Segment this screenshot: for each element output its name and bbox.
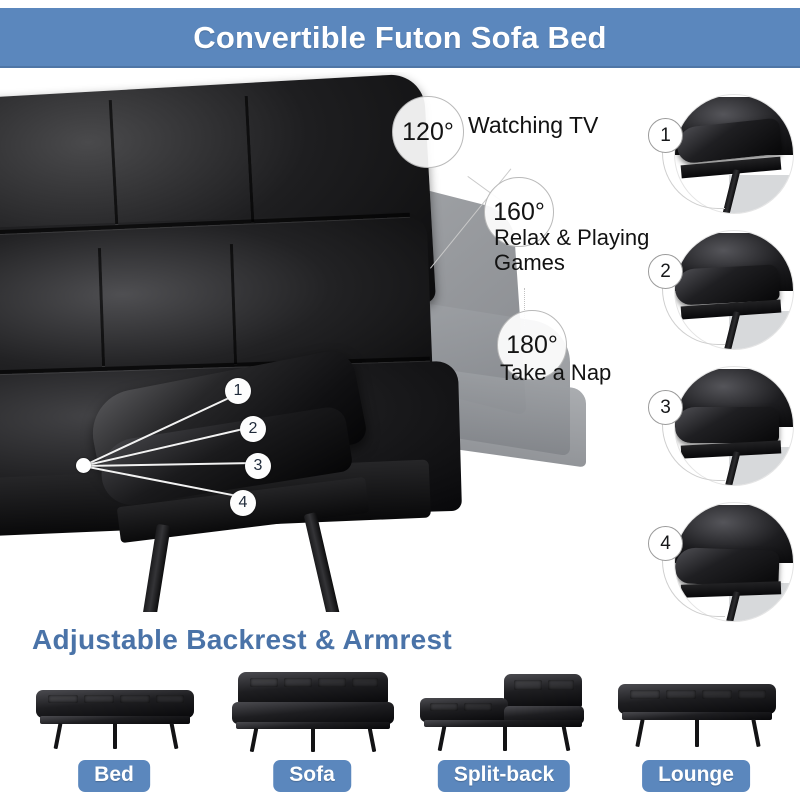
tuft	[250, 678, 278, 687]
thumbnail-2[interactable]: 2	[648, 230, 770, 352]
backrest	[238, 672, 388, 704]
fan-line-4	[83, 465, 250, 499]
seat	[232, 702, 394, 724]
product-infographic: Convertible Futon Sofa Bed 120° Watching…	[0, 0, 800, 800]
fan-line-3	[83, 462, 255, 467]
thumbnail-4[interactable]: 4	[648, 502, 770, 624]
fan-pivot-point	[76, 458, 91, 473]
armrest-position-fan: 1 2 3 4	[60, 370, 300, 520]
mode-split-back[interactable]: Split-back	[404, 668, 604, 794]
mode-illustration-bed	[14, 668, 214, 752]
tuft	[156, 695, 184, 703]
mode-lounge[interactable]: Lounge	[596, 668, 796, 794]
leg	[54, 723, 63, 749]
thumbnail-badge-1: 1	[648, 118, 683, 153]
thumbnail-badge-2: 2	[648, 254, 683, 289]
leg	[751, 719, 760, 747]
tuft	[352, 678, 378, 687]
armrest-position-badge-4: 4	[230, 490, 256, 516]
mode-label-sofa: Sofa	[273, 760, 351, 792]
floor-shadow	[729, 175, 793, 213]
mode-label-bed: Bed	[78, 760, 150, 792]
tuft	[120, 695, 150, 703]
thumbnail-1[interactable]: 1	[648, 94, 770, 216]
reclined-back	[618, 684, 776, 714]
tuft	[630, 690, 660, 699]
leg	[562, 726, 571, 751]
tuft	[666, 690, 696, 699]
thumbnail-3[interactable]: 3	[648, 366, 770, 488]
angle-label-180: Take a Nap	[500, 361, 611, 386]
tuft	[548, 680, 574, 690]
armrest-detail-thumbnails: 1 2	[648, 78, 800, 634]
leg	[438, 726, 447, 751]
tuft	[284, 678, 312, 687]
leg	[368, 728, 377, 752]
thumbnail-badge-4: 4	[648, 526, 683, 561]
tuft	[464, 703, 492, 711]
leg	[250, 728, 259, 752]
tuft	[702, 690, 732, 699]
tuft	[48, 695, 78, 703]
leg	[503, 726, 507, 751]
armrest-position-badge-2: 2	[240, 416, 266, 442]
leg	[635, 719, 644, 747]
leg	[170, 723, 179, 749]
mode-label-split-back: Split-back	[438, 760, 570, 792]
mode-illustration-split-back	[404, 668, 604, 752]
leg	[695, 719, 699, 747]
mode-gallery: Bed Sofa	[0, 668, 800, 794]
armrest-position-badge-3: 3	[245, 453, 271, 479]
fan-line-2	[83, 427, 249, 467]
mode-bed[interactable]: Bed	[14, 668, 214, 794]
angle-circle-120: 120°	[392, 96, 464, 168]
tuft	[738, 690, 766, 699]
angle-label-160: Relax & Playing Games	[494, 226, 649, 275]
armrest-position-badge-1: 1	[225, 378, 251, 404]
tuft	[514, 680, 542, 690]
fan-line-1	[83, 394, 236, 466]
leg	[113, 723, 117, 749]
angle-label-120: Watching TV	[468, 113, 598, 139]
mode-illustration-sofa	[212, 668, 412, 752]
mode-sofa[interactable]: Sofa	[212, 668, 412, 794]
sofa-leg	[304, 512, 342, 612]
section-heading: Adjustable Backrest & Armrest	[32, 624, 452, 656]
mode-illustration-lounge	[596, 668, 796, 752]
thumbnail-badge-3: 3	[648, 390, 683, 425]
leg	[311, 728, 315, 752]
tuft	[430, 703, 458, 711]
page-title: Convertible Futon Sofa Bed	[193, 20, 606, 56]
mode-label-lounge: Lounge	[642, 760, 750, 792]
header-banner: Convertible Futon Sofa Bed	[0, 8, 800, 68]
tuft	[84, 695, 114, 703]
tuft	[318, 678, 346, 687]
